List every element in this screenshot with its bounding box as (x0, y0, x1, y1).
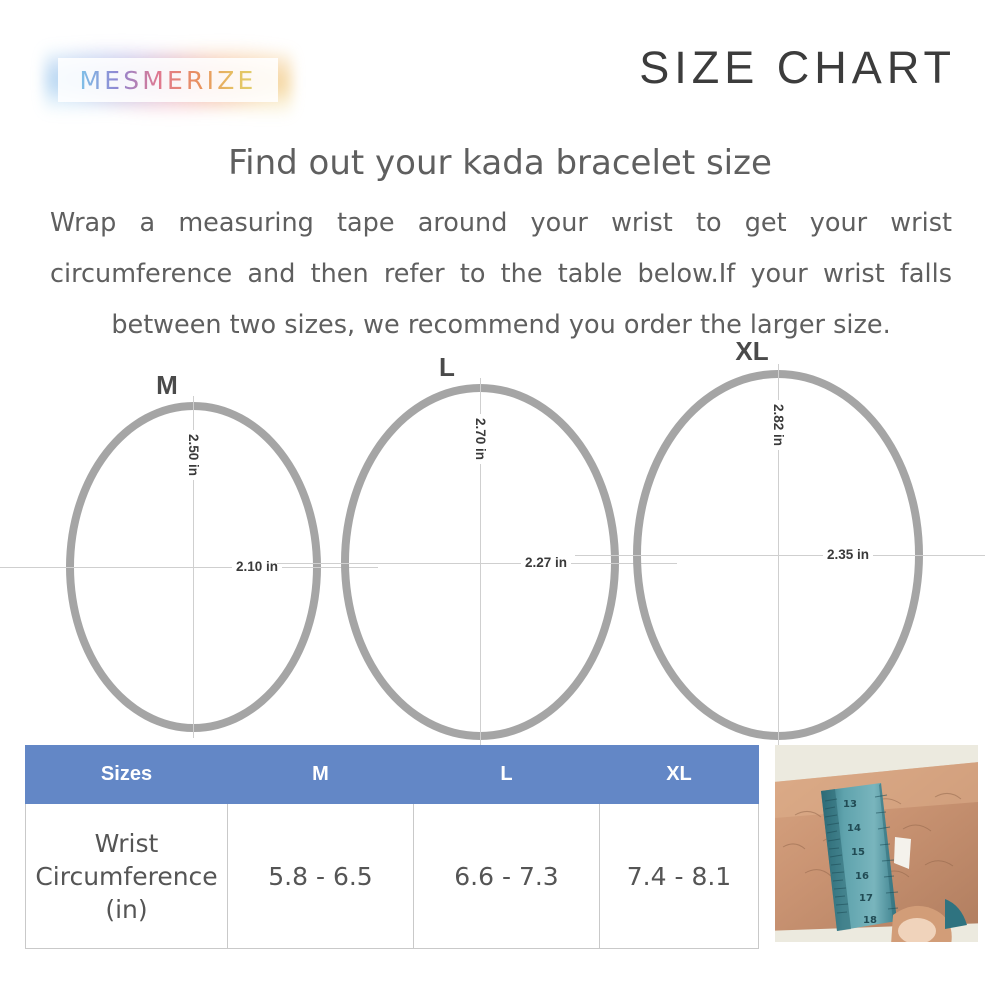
table-header-sizes: Sizes (26, 746, 228, 804)
table-header-row: Sizes M L XL (26, 746, 759, 804)
brand-logo: MESMERIZE (44, 44, 292, 116)
oval-label-m: M (22, 370, 312, 401)
table-header-m: M (228, 746, 414, 804)
oval-diagrams: M 2.50 in 2.10 in L 2.70 in 2.27 in XL 2… (0, 350, 1000, 740)
oval-diagram-m: M 2.50 in 2.10 in (60, 370, 350, 740)
oval-width-label-m: 2.10 in (232, 559, 282, 574)
tape-mark-17: 17 (859, 893, 873, 904)
oval-width-label-l: 2.27 in (521, 555, 571, 570)
size-table: Sizes M L XL Wrist Circumference (in) 5.… (25, 745, 759, 949)
logo-plate: MESMERIZE (58, 58, 278, 102)
oval-axis-horizontal-m (0, 567, 378, 568)
oval-height-label-m: 2.50 in (186, 430, 201, 480)
tape-mark-18: 18 (863, 915, 877, 926)
wrist-measurement-photo: 13 14 15 16 17 18 (775, 745, 978, 942)
table-header-xl: XL (600, 746, 759, 804)
row-label-line-3: (in) (105, 895, 147, 924)
cell-wrist-circumference-l: 6.6 - 7.3 (414, 804, 600, 949)
table-header-l: L (414, 746, 600, 804)
wrist-photo-illustration: 13 14 15 16 17 18 (775, 745, 978, 942)
oval-width-label-xl: 2.35 in (823, 547, 873, 562)
oval-axis-horizontal-xl (575, 555, 985, 556)
oval-height-label-l: 2.70 in (473, 414, 488, 464)
oval-diagram-l: L 2.70 in 2.27 in (335, 352, 635, 740)
headline: Find out your kada bracelet size (0, 143, 1000, 183)
oval-diagram-xl: XL 2.82 in 2.35 in (627, 336, 937, 740)
oval-height-label-xl: 2.82 in (771, 400, 786, 450)
row-label-line-1: Wrist (95, 829, 159, 858)
row-label-line-2: Circumference (35, 862, 217, 891)
intro-paragraph: Wrap a measuring tape around your wrist … (50, 198, 952, 351)
cell-wrist-circumference-xl: 7.4 - 8.1 (600, 804, 759, 949)
logo-text: MESMERIZE (79, 66, 256, 95)
row-label-wrist-circumference: Wrist Circumference (in) (26, 804, 228, 949)
tape-mark-13: 13 (843, 799, 857, 810)
oval-axis-horizontal-l (277, 563, 677, 564)
cell-wrist-circumference-m: 5.8 - 6.5 (228, 804, 414, 949)
table-row: Wrist Circumference (in) 5.8 - 6.5 6.6 -… (26, 804, 759, 949)
oval-label-l: L (297, 352, 597, 383)
tape-mark-14: 14 (847, 823, 861, 834)
tape-mark-16: 16 (855, 871, 869, 882)
tape-mark-15: 15 (851, 847, 865, 858)
oval-label-xl: XL (597, 336, 907, 367)
page-title: SIZE CHART (639, 42, 956, 94)
